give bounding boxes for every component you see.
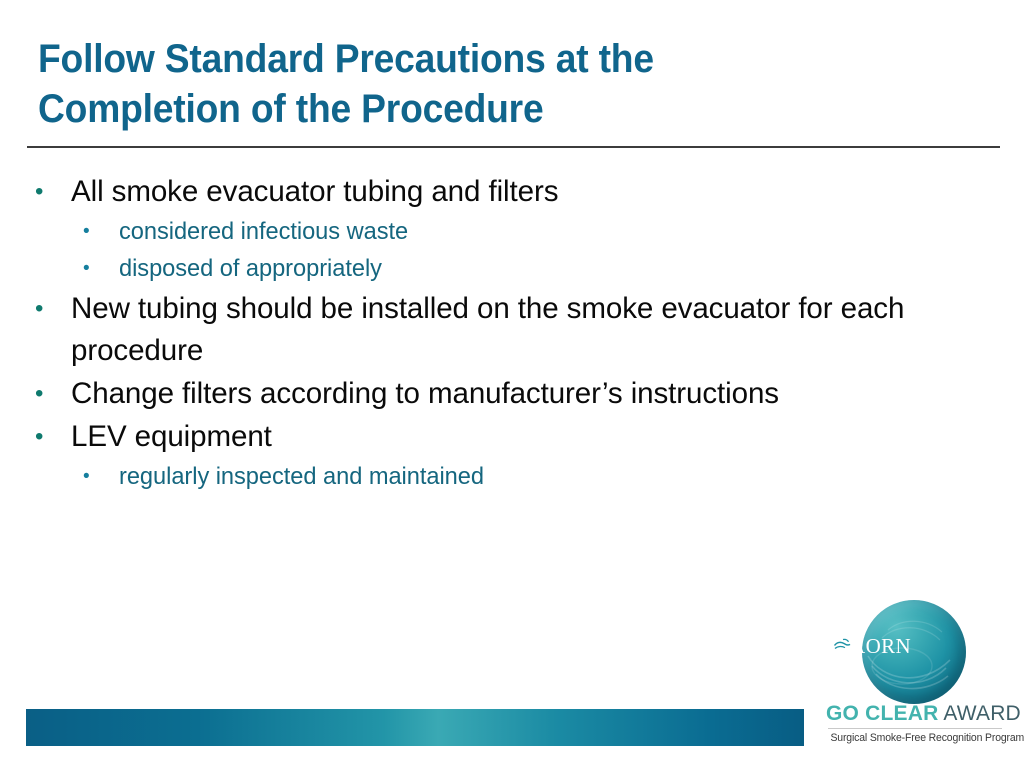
aorn-go-clear-logo: AORN GO CLEAR AWARD Surgical Smoke-Free …	[826, 598, 1004, 753]
bullet-icon: •	[27, 288, 71, 330]
bullet-icon: •	[27, 416, 71, 458]
list-item: • New tubing should be installed on the …	[27, 288, 1002, 372]
aorn-wave-emblem-icon	[832, 635, 852, 655]
bullet-icon: •	[75, 251, 119, 287]
title-divider	[27, 146, 1000, 148]
list-item: • disposed of appropriately	[27, 251, 1002, 287]
list-item: • Change filters according to manufactur…	[27, 373, 1002, 415]
list-item-text: disposed of appropriately	[119, 251, 989, 287]
go-clear-tagline: Surgical Smoke-Free Recognition Program	[830, 731, 999, 746]
footer-gradient-bar	[26, 709, 804, 746]
tagline-divider	[828, 728, 1002, 729]
award-text: AWARD	[938, 702, 1020, 725]
go-clear-text: GO CLEAR	[826, 702, 938, 725]
page-title: Follow Standard Precautions at the Compl…	[38, 34, 922, 134]
aorn-wordmark: AORN	[850, 636, 930, 657]
list-item: • considered infectious waste	[27, 214, 1002, 250]
bullet-icon: •	[75, 214, 119, 250]
list-item: • All smoke evacuator tubing and filters	[27, 171, 1002, 213]
bullet-icon: •	[27, 373, 71, 415]
list-item-text: considered infectious waste	[119, 214, 989, 250]
list-item-text: LEV equipment	[71, 416, 988, 458]
list-item: • LEV equipment	[27, 416, 1002, 458]
bullet-list: • All smoke evacuator tubing and filters…	[27, 171, 1002, 496]
go-clear-award-title: GO CLEAR AWARD	[826, 702, 1004, 726]
list-item-text: New tubing should be installed on the sm…	[71, 288, 988, 372]
bullet-icon: •	[27, 171, 71, 213]
list-item-text: regularly inspected and maintained	[119, 459, 989, 495]
list-item-text: Change filters according to manufacturer…	[71, 373, 988, 415]
list-item-text: All smoke evacuator tubing and filters	[71, 171, 988, 213]
list-item: • regularly inspected and maintained	[27, 459, 1002, 495]
bullet-icon: •	[75, 459, 119, 495]
